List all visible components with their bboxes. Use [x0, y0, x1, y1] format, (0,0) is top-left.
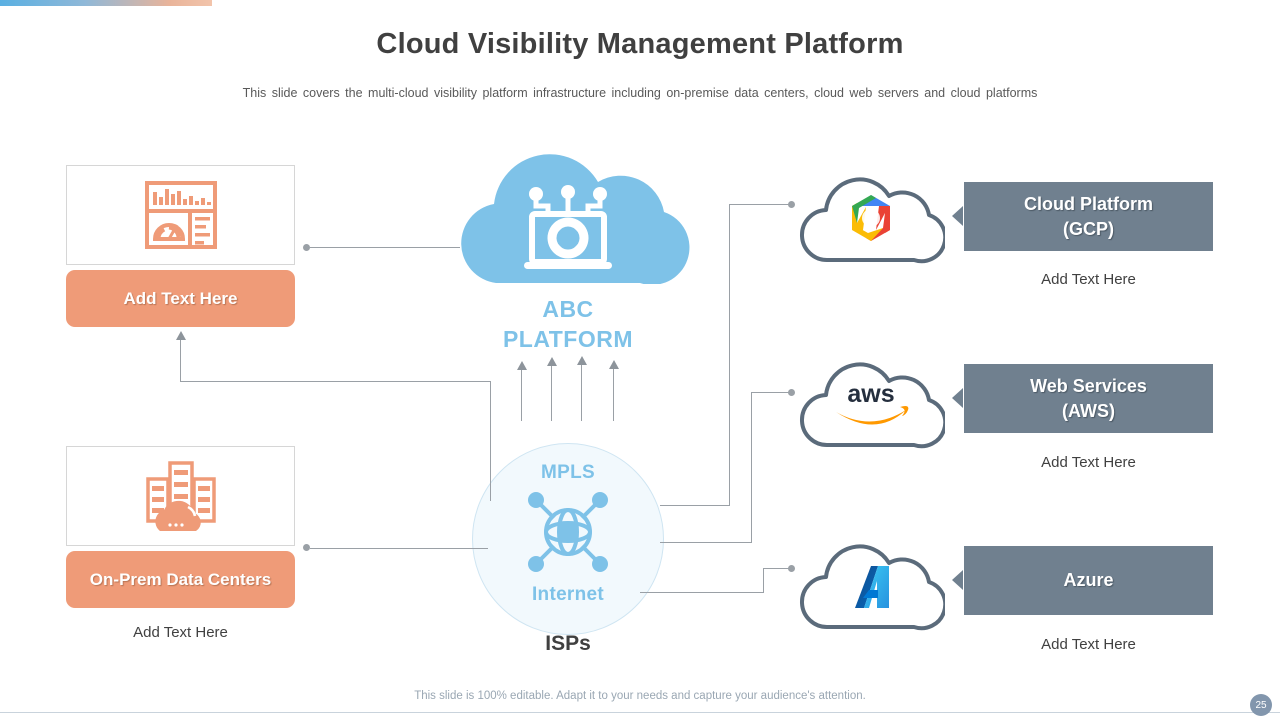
- gcp-logo-icon: [843, 190, 899, 246]
- gcp-box-label: Cloud Platform (GCP): [1024, 192, 1153, 242]
- connector-aws-h1: [660, 542, 752, 543]
- uplink-line-3: [581, 363, 582, 421]
- slide-canvas: Cloud Visibility Management Platform Thi…: [0, 0, 1280, 720]
- connector-elbow-v-left: [180, 339, 181, 382]
- uplink-line-4: [613, 367, 614, 421]
- connector-dot-azure: [788, 565, 795, 572]
- azure-logo-icon: [845, 560, 899, 612]
- onprem-pill[interactable]: On-Prem Data Centers: [66, 551, 295, 608]
- uplink-arrow-1: [517, 361, 527, 370]
- isps-label: ISPs: [472, 632, 664, 656]
- connector-dot-gcp: [788, 201, 795, 208]
- connector-azure-h2: [763, 568, 789, 569]
- uplink-line-2: [551, 364, 552, 421]
- accent-bar: [0, 0, 212, 6]
- analytics-icon-card: [66, 165, 295, 265]
- footer-divider: [0, 712, 1280, 713]
- uplink-arrow-3: [577, 356, 587, 365]
- internet-label: Internet: [472, 584, 664, 606]
- connector-gcp-v: [729, 204, 730, 506]
- connector-gcp-h2: [729, 204, 789, 205]
- connector-elbow-h: [180, 381, 490, 382]
- connector-aws-h2: [751, 392, 789, 393]
- onprem-pill-label: On-Prem Data Centers: [90, 569, 271, 591]
- connector-gcp-h1: [660, 505, 730, 506]
- connector-left-top: [310, 247, 460, 248]
- connector-left-bottom: [310, 548, 488, 549]
- datacenter-icon-card: [66, 446, 295, 546]
- azure-arrow-icon: [952, 570, 963, 590]
- abc-platform-cloud: [444, 152, 692, 284]
- page-title: Cloud Visibility Management Platform: [0, 28, 1280, 61]
- connector-elbow-arrow: [176, 331, 186, 340]
- connector-aws-v: [751, 392, 752, 543]
- aws-box[interactable]: Web Services (AWS): [964, 364, 1213, 433]
- left-pill-label: Add Text Here: [124, 288, 238, 310]
- connector-elbow-v-right: [490, 381, 491, 501]
- connector-dot-left-bottom: [303, 544, 310, 551]
- connector-azure-h1: [640, 592, 764, 593]
- azure-caption: Add Text Here: [964, 636, 1213, 653]
- uplink-arrow-2: [547, 357, 557, 366]
- gcp-arrow-icon: [952, 206, 963, 226]
- abc-platform-label-line2: PLATFORM: [444, 324, 692, 354]
- uplink-line-1: [521, 368, 522, 421]
- azure-box-label: Azure: [1063, 568, 1113, 593]
- mpls-label: MPLS: [472, 462, 664, 484]
- connector-dot-aws: [788, 389, 795, 396]
- svg-text:aws: aws: [847, 380, 894, 408]
- abc-platform-label: ABC PLATFORM: [444, 294, 692, 354]
- gcp-caption: Add Text Here: [964, 271, 1213, 288]
- aws-arrow-icon: [952, 388, 963, 408]
- globe-network-icon: [518, 482, 618, 582]
- datacenter-servers-cloud-icon: [138, 455, 224, 537]
- uplink-arrow-4: [609, 360, 619, 369]
- left-pill-add-text[interactable]: Add Text Here: [66, 270, 295, 327]
- aws-logo-icon: aws: [828, 378, 914, 428]
- abc-platform-label-line1: ABC: [444, 294, 692, 324]
- azure-box[interactable]: Azure: [964, 546, 1213, 615]
- footer-note: This slide is 100% editable. Adapt it to…: [0, 690, 1280, 702]
- connector-dot-left-top: [303, 244, 310, 251]
- aws-caption: Add Text Here: [964, 454, 1213, 471]
- gcp-box[interactable]: Cloud Platform (GCP): [964, 182, 1213, 251]
- connector-azure-v: [763, 568, 764, 593]
- onprem-caption: Add Text Here: [66, 624, 295, 641]
- analytics-dashboard-icon: [141, 175, 221, 255]
- aws-box-label: Web Services (AWS): [1030, 374, 1147, 424]
- page-subtitle: This slide covers the multi-cloud visibi…: [190, 86, 1090, 100]
- page-number-badge: 25: [1250, 694, 1272, 716]
